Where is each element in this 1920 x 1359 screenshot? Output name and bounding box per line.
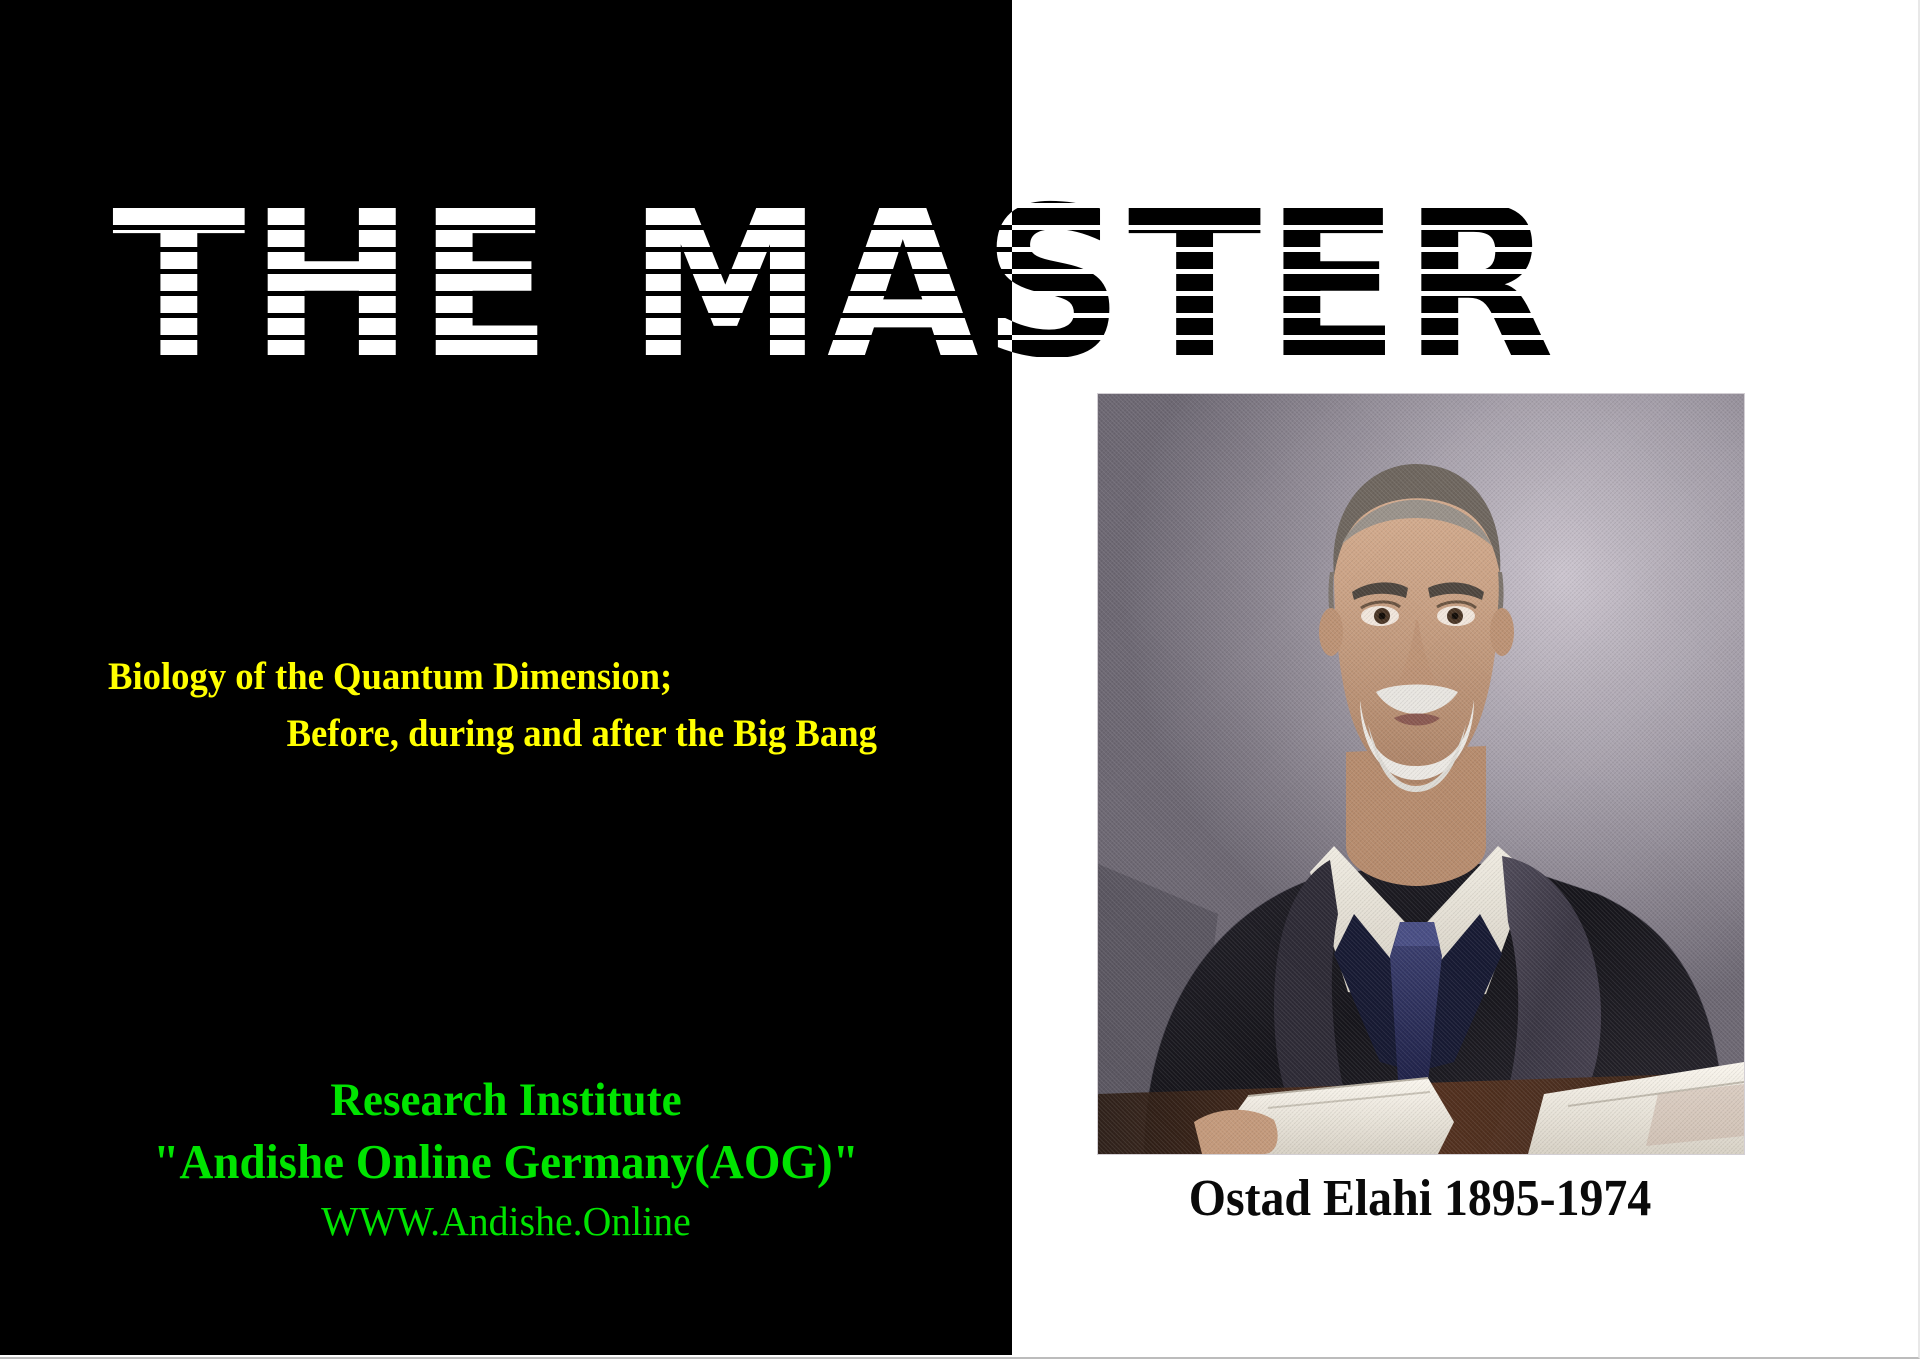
presentation-slide: THE MASTER THE MASTER Biology of the Qua… <box>0 0 1920 1359</box>
institute-credit: Research Institute "Andishe Online Germa… <box>0 1070 1012 1248</box>
portrait-grain-overlay <box>1098 394 1744 1154</box>
subtitle-line-2: Before, during and after the Big Bang <box>108 705 935 762</box>
institute-org: "Andishe Online Germany(AOG)" <box>20 1130 992 1194</box>
slide-title: THE MASTER THE MASTER <box>112 178 1692 378</box>
portrait-photo <box>1098 394 1744 1154</box>
photo-caption: Ostad Elahi 1895-1974 <box>1089 1168 1751 1230</box>
institute-name: Research Institute <box>20 1070 992 1130</box>
institute-website: WWW.Andishe.Online <box>15 1194 997 1248</box>
subtitle-line-1: Biology of the Quantum Dimension; <box>108 655 672 698</box>
slide-subtitle: Biology of the Quantum Dimension; Before… <box>108 648 935 762</box>
